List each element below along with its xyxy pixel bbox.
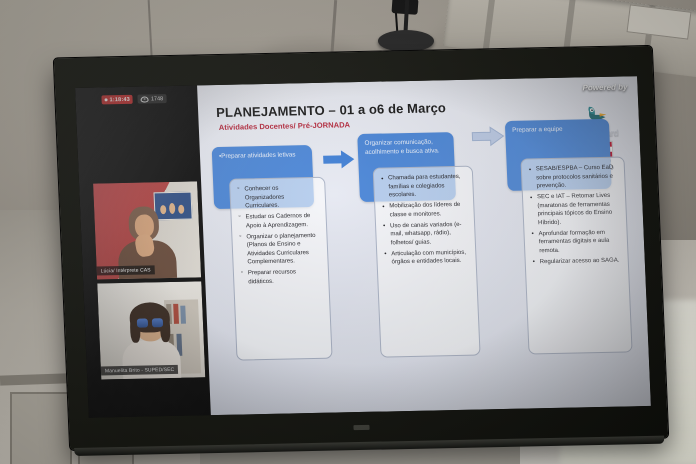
list-item: Articulação com municípios, órgãos e ent…: [384, 248, 470, 267]
slide-subtitle: Atividades Docentes/ Pré-JORNADA: [219, 120, 351, 132]
list-item: Conhecer os Organizadores Curriculares.: [237, 184, 319, 211]
live-timer-value: 1:18:43: [109, 96, 130, 102]
column-body-1: Conhecer os Organizadores Curriculares. …: [229, 177, 333, 361]
live-dot-icon: [105, 98, 108, 101]
wall-mounted-television: 1:18:43 1748: [54, 46, 668, 450]
list-item: SEC e IAT – Retomar Lives (maratonas de …: [530, 192, 620, 228]
eye-icon: [141, 96, 149, 102]
eyeglasses: [137, 318, 163, 328]
live-timer-badge: 1:18:43: [101, 95, 133, 105]
list-item: Estudar os Cadernos de Apoio à Aprendiza…: [238, 212, 320, 231]
ceiling-mount-plate: [378, 30, 434, 52]
room-photo-scene: 1:18:43 1748: [0, 0, 696, 464]
list-item: Uso de canais variados (e-mail, whatsapp…: [383, 220, 469, 247]
list-item: Preparar recursos didáticos.: [241, 268, 323, 287]
door-frame: [10, 392, 72, 464]
viewer-count-badge: 1748: [138, 94, 167, 104]
list-item: Aprofundar formação em ferramentas digit…: [531, 228, 621, 255]
wall-picture: [153, 192, 192, 221]
list-item: Chamada para estudantes, famílias e cole…: [381, 173, 467, 200]
column-body-3: SESAB/ESPBA – Curso EaD sobre protocolos…: [520, 156, 632, 354]
list-item: SESAB/ESPBA – Curso EaD sobre protocolos…: [529, 164, 619, 191]
viewer-count-value: 1748: [151, 96, 164, 102]
stream-status-bar: 1:18:43 1748: [101, 94, 166, 104]
list-item: Mobilização dos líderes de classe e moni…: [382, 201, 468, 220]
streamyard-sidebar: 1:18:43 1748: [75, 85, 211, 417]
flow-arrow-1: [322, 148, 357, 171]
participant-name-label: Lúcia/ Intérprete CAS: [97, 265, 155, 275]
column-body-2: Chamada para estudantes, famílias e cole…: [373, 166, 481, 358]
slide-title: PLANEJAMENTO – 01 a o6 de Março: [216, 100, 446, 120]
participant-video-tile[interactable]: Manuelita Brito - SUPED/SEC: [97, 281, 205, 379]
flow-arrow-2: [471, 125, 506, 148]
tv-screen: 1:18:43 1748: [75, 76, 651, 417]
list-item: Regularizar acesso ao SAGA.: [533, 256, 622, 266]
powered-by-label: Powered by: [582, 82, 627, 92]
participant-video-tile[interactable]: Lúcia/ Intérprete CAS: [93, 181, 201, 279]
participant-name-label: Manuelita Brito - SUPED/SEC: [101, 365, 179, 376]
presentation-slide: Powered by StreamYard: [197, 76, 651, 415]
list-item: Organizar o planejamento (Planos de Ensi…: [239, 231, 321, 267]
tv-brand-mark: [353, 425, 369, 430]
